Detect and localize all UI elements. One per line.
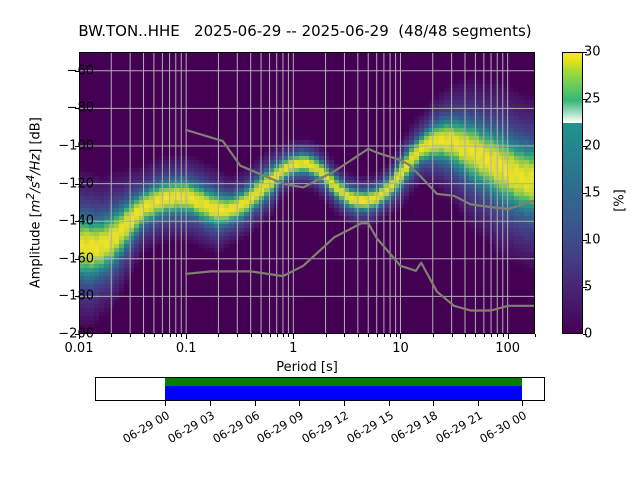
y-tick-mark bbox=[75, 296, 79, 297]
x-tick-mark-minor bbox=[368, 334, 369, 337]
x-tick-mark-minor bbox=[181, 334, 182, 337]
x-tick-mark-minor bbox=[358, 334, 359, 337]
y-tick-mark bbox=[75, 221, 79, 222]
colorbar-label: [%] bbox=[613, 141, 628, 261]
x-tick-label: 10 bbox=[392, 341, 409, 356]
x-tick-mark-minor bbox=[176, 334, 177, 337]
x-tick-mark-minor bbox=[283, 334, 284, 337]
x-tick-mark-minor bbox=[503, 334, 504, 337]
x-tick-mark-minor bbox=[162, 334, 163, 337]
x-tick-mark-major bbox=[186, 334, 187, 339]
colorbar-tick-mark bbox=[583, 52, 587, 53]
x-tick-label: 0.1 bbox=[176, 341, 197, 356]
timeline-band-psd-segments bbox=[165, 386, 522, 400]
x-tick-mark-minor bbox=[344, 334, 345, 337]
y-tick-mark bbox=[75, 108, 79, 109]
timeline-tick-mark bbox=[165, 401, 166, 406]
colorbar-tick-mark bbox=[583, 334, 587, 335]
timeline-tick-mark bbox=[344, 401, 345, 406]
y-tick-mark bbox=[75, 71, 79, 72]
x-tick-mark-minor bbox=[144, 334, 145, 337]
colorbar-tick-mark bbox=[583, 240, 587, 241]
x-tick-mark-minor bbox=[452, 334, 453, 337]
y-tick-label: −60 bbox=[67, 63, 94, 78]
x-tick-mark-minor bbox=[270, 334, 271, 337]
x-tick-mark-minor bbox=[491, 334, 492, 337]
y-tick-mark bbox=[75, 184, 79, 185]
x-axis-label: Period [s] bbox=[79, 360, 535, 375]
x-tick-mark-major bbox=[508, 334, 509, 339]
y-tick-mark bbox=[75, 259, 79, 260]
x-tick-mark-minor bbox=[390, 334, 391, 337]
x-tick-label: 0.01 bbox=[65, 341, 94, 356]
x-tick-mark-major bbox=[293, 334, 294, 339]
x-tick-mark-minor bbox=[465, 334, 466, 337]
x-tick-mark-minor bbox=[111, 334, 112, 337]
x-tick-mark-major bbox=[79, 334, 80, 339]
x-tick-mark-minor bbox=[484, 334, 485, 337]
x-tick-mark-major bbox=[400, 334, 401, 339]
x-tick-mark-minor bbox=[130, 334, 131, 337]
ppsd-density-plot[interactable] bbox=[79, 52, 535, 334]
x-tick-mark-minor bbox=[396, 334, 397, 337]
timeline-tick-mark bbox=[210, 401, 211, 406]
x-tick-mark-minor bbox=[535, 334, 536, 337]
x-tick-mark-minor bbox=[475, 334, 476, 337]
x-tick-mark-minor bbox=[497, 334, 498, 337]
x-tick-mark-minor bbox=[170, 334, 171, 337]
x-tick-mark-minor bbox=[288, 334, 289, 337]
colorbar-tick-mark bbox=[583, 99, 587, 100]
timeline-tick-mark bbox=[389, 401, 390, 406]
timeline-tick-mark bbox=[433, 401, 434, 406]
timeline-tick-mark bbox=[255, 401, 256, 406]
x-tick-mark-minor bbox=[384, 334, 385, 337]
timeline-tick-mark bbox=[522, 401, 523, 406]
colorbar bbox=[562, 52, 583, 334]
colorbar-tick-mark bbox=[583, 193, 587, 194]
noise-model-overlay bbox=[79, 52, 535, 334]
x-tick-mark-minor bbox=[277, 334, 278, 337]
x-tick-label: 1 bbox=[289, 341, 297, 356]
x-tick-mark-minor bbox=[377, 334, 378, 337]
x-tick-mark-minor bbox=[326, 334, 327, 337]
y-axis-label: Amplitude [m2/s4/Hz] [dB] bbox=[24, 73, 43, 333]
timeline-band-data-coverage bbox=[165, 378, 522, 386]
timeline-tick-mark bbox=[299, 401, 300, 406]
y-tick-label: −80 bbox=[67, 101, 94, 116]
x-tick-mark-minor bbox=[251, 334, 252, 337]
figure-title: BW.TON..HHE 2025-06-29 -- 2025-06-29 (48… bbox=[0, 22, 610, 40]
colorbar-tick-mark bbox=[583, 146, 587, 147]
x-tick-mark-minor bbox=[237, 334, 238, 337]
ppsd-figure: BW.TON..HHE 2025-06-29 -- 2025-06-29 (48… bbox=[0, 0, 640, 480]
timeline-tick-mark bbox=[478, 401, 479, 406]
x-tick-label: 100 bbox=[495, 341, 520, 356]
x-tick-mark-minor bbox=[218, 334, 219, 337]
x-tick-mark-minor bbox=[154, 334, 155, 337]
x-tick-mark-minor bbox=[433, 334, 434, 337]
y-tick-mark bbox=[75, 146, 79, 147]
x-tick-mark-minor bbox=[261, 334, 262, 337]
colorbar-tick-mark bbox=[583, 287, 587, 288]
